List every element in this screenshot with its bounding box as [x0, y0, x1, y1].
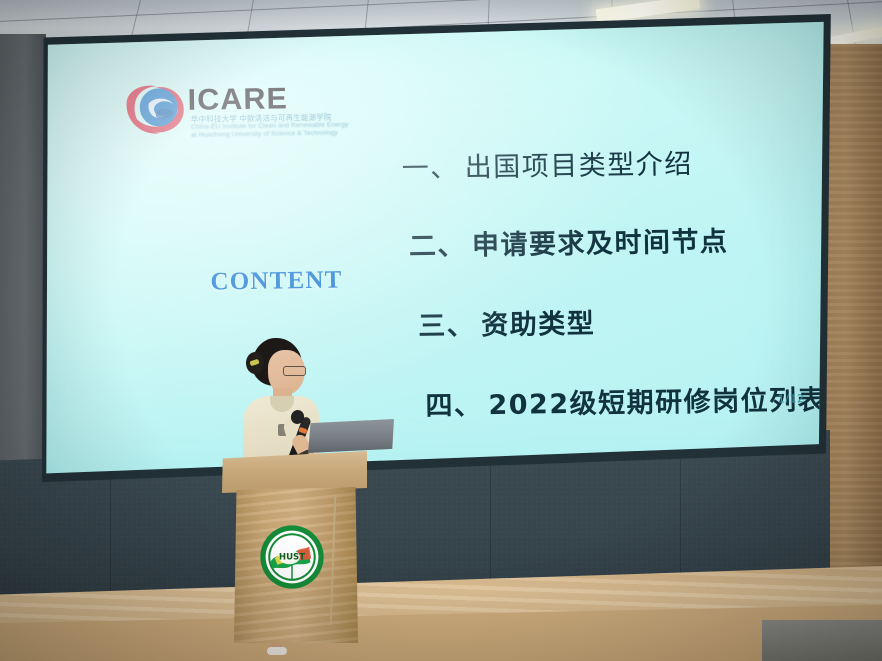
laptop-icon	[308, 419, 394, 453]
toc-item: 四、2022级短期研修岗位列表	[425, 378, 826, 423]
toc-item-label: 资助类型	[481, 308, 595, 341]
toc-item-label: 2022级短期研修岗位列表	[488, 385, 826, 421]
icare-logo: ICARE 华中科技大学 中欧清洁与可再生能源学院 China-EU Insti…	[122, 76, 373, 165]
podium: HUST	[222, 451, 367, 641]
slide-toc: 一、出国项目类型介绍 二、申请要求及时间节点 三、资助类型 四、2022级短期研…	[393, 114, 813, 121]
toc-item: 三、资助类型	[418, 301, 596, 343]
toc-item-number: 四、	[425, 390, 482, 422]
slide-page-number: 1/12	[778, 392, 805, 405]
toc-item-number: 二、	[409, 231, 466, 263]
icare-swoosh-logo-icon	[122, 83, 189, 136]
toc-item-label: 申请要求及时间节点	[472, 226, 729, 261]
svg-text:HUST: HUST	[279, 553, 305, 563]
glasses-icon	[283, 366, 306, 376]
projection-screen: ICARE 华中科技大学 中欧清洁与可再生能源学院 China-EU Insti…	[40, 20, 830, 478]
toc-item-number: 三、	[418, 310, 475, 342]
presenter-shoe	[267, 647, 287, 655]
toc-item: 二、申请要求及时间节点	[409, 219, 729, 263]
toc-item-label: 出国项目类型介绍	[464, 149, 692, 184]
school-emblem-icon: HUST	[259, 523, 325, 591]
podium-top-surface	[222, 451, 367, 493]
presentation-room-photo: ICARE 华中科技大学 中欧清洁与可再生能源学院 China-EU Insti…	[0, 0, 882, 661]
icare-subtitle-en-2: at Huazhong University of Science & Tech…	[191, 129, 381, 140]
icare-subtitle: 华中科技大学 中欧清洁与可再生能源学院 China-EU Institute f…	[191, 113, 381, 141]
content-label: CONTENT	[210, 266, 342, 296]
toc-item-number: 一、	[401, 153, 458, 185]
floor-carpet	[762, 620, 882, 661]
toc-item: 一、出国项目类型介绍	[401, 142, 693, 186]
